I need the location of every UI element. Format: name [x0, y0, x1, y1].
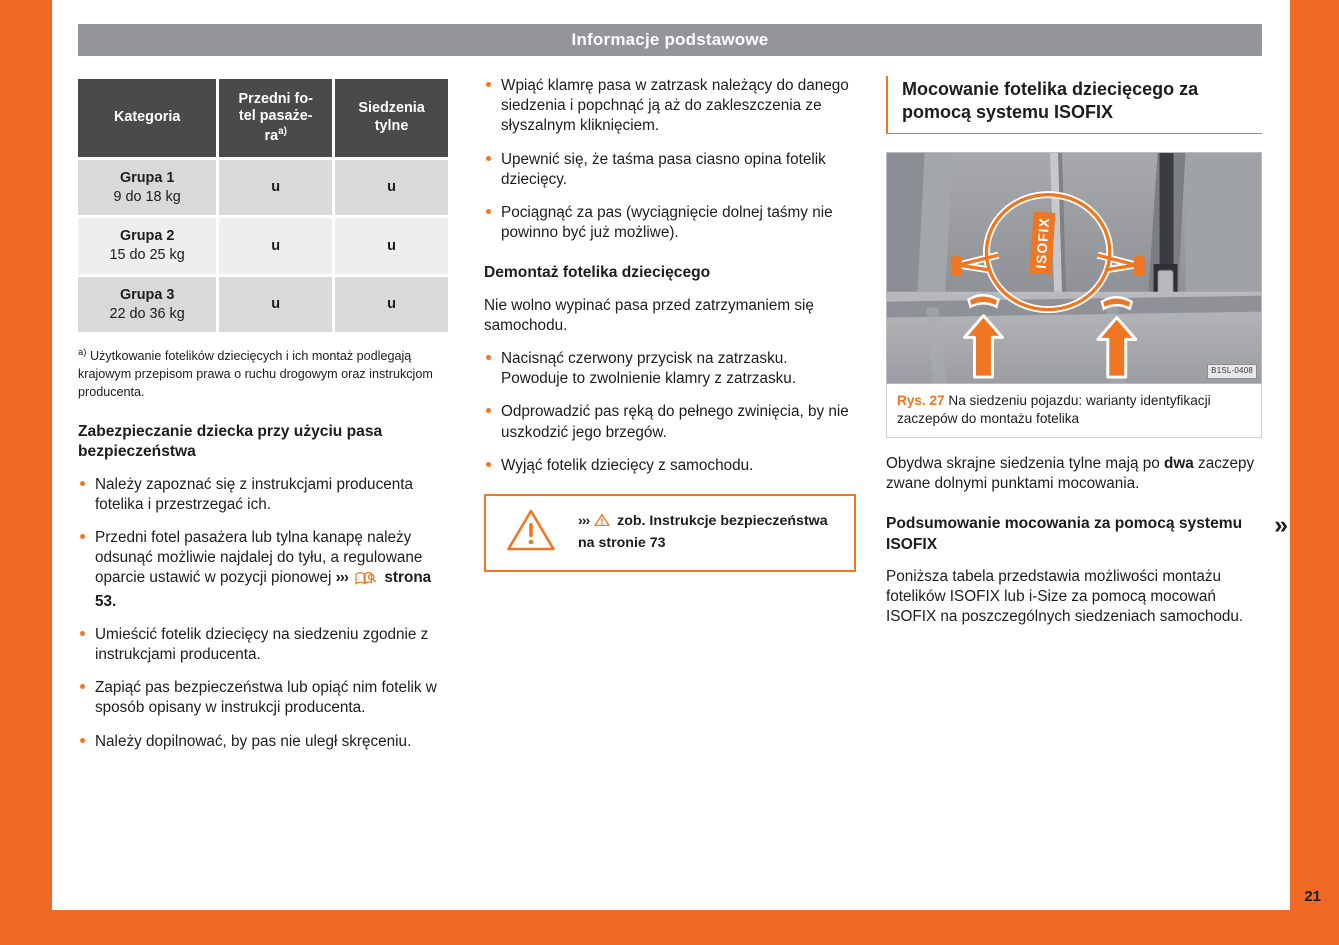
list-item: Zapiąć pas bezpieczeństwa lub opiąć nim … [78, 678, 454, 718]
list-item-text: Wyjąć fotelik dziecięcy z samochodu. [501, 457, 753, 474]
running-header: Informacje podstawowe [78, 24, 1262, 56]
footnote-text: Użytkowanie fotelików dziecięcych i ich … [78, 350, 433, 400]
list-item-text: Nacisnąć czerwony przycisk na zatrzasku.… [501, 350, 796, 387]
list-item: Pociągnąć za pas (wyciągnięcie dolnej ta… [484, 203, 856, 243]
safety-warning-line1: zob. Instrukcje bezpieczeństwa [617, 513, 828, 529]
list-item-text: Odprowadzić pas ręką do pełnego zwinięci… [501, 403, 849, 440]
group-label: Grupa 2 [82, 227, 212, 246]
continue-marker-icon: » [1274, 509, 1288, 542]
list-item-text: Wpiąć klamrę pasa w zatrzask należący do… [501, 77, 849, 134]
table-row: Grupa 2 15 do 25 kg u u [78, 218, 448, 273]
table-header-siedzenia-tylne: Siedzeniatylne [335, 79, 448, 157]
table-row: Grupa 3 22 do 36 kg u u [78, 277, 448, 332]
table-cell-front: u [219, 160, 332, 215]
table-cell-category: Grupa 2 15 do 25 kg [78, 218, 216, 273]
list-item: Należy zapoznać się z instrukcjami produ… [78, 475, 454, 515]
list-item-text: Umieścić fotelik dziecięcy na siedzeniu … [95, 626, 428, 663]
table-cell-front: u [219, 277, 332, 332]
list-item: Wyjąć fotelik dziecięcy z samochodu. [484, 456, 856, 476]
safety-warning-text: ››› zob. Instrukcje bezpieczeństwa na st… [578, 512, 828, 554]
header-title: Informacje podstawowe [572, 29, 769, 51]
list-item: Odprowadzić pas ręką do pełnego zwinięci… [484, 402, 856, 442]
paragraph-part-a: Obydwa skrajne siedzenia tylne mają po [886, 455, 1164, 472]
figure-code: B1SL-0408 [1207, 364, 1257, 379]
weight-label: 15 do 25 kg [82, 246, 212, 265]
warning-triangle-icon [506, 508, 556, 558]
list-item-text: Należy zapoznać się z instrukcjami produ… [95, 476, 413, 513]
bullet-dot-icon [486, 82, 491, 87]
table-cell-rear: u [335, 218, 448, 273]
list-item: Należy dopilnować, by pas nie uległ skrę… [78, 732, 454, 752]
figure-caption: Rys. 27 Na siedzeniu pojazdu: warianty i… [886, 384, 1262, 438]
section-heading-demontaz: Demontaż fotelika dziecięcego [484, 263, 856, 283]
section-heading-isofix: Mocowanie fotelika dziecięcego za pomocą… [886, 76, 1262, 134]
paragraph-bold-dwa: dwa [1164, 455, 1194, 472]
chevrons-icon: ››› [578, 513, 589, 529]
footnote-ref-a: a) [278, 126, 287, 137]
figure-image: ISOFIX [886, 152, 1262, 384]
group-label: Grupa 3 [82, 286, 212, 305]
table-cell-category: Grupa 3 22 do 36 kg [78, 277, 216, 332]
table-header-siedzenia-tylne-label: Siedzeniatylne [358, 100, 424, 134]
list-item-text: Upewnić się, że taśma pasa ciasno opina … [501, 151, 826, 188]
table-cell-front: u [219, 218, 332, 273]
list-item-text: Zapiąć pas bezpieczeństwa lub opiąć nim … [95, 679, 437, 716]
column-right: Mocowanie fotelika dziecięcego za pomocą… [886, 76, 1262, 640]
list-item: Umieścić fotelik dziecięcy na siedzeniu … [78, 625, 454, 665]
bullet-dot-icon [486, 209, 491, 214]
bullet-dot-icon [486, 408, 491, 413]
column-left: Kategoria Przedni fo-tel pasaże-raa) Sie… [78, 76, 454, 765]
table-header-kategoria: Kategoria [78, 79, 216, 157]
figure-isofix: ISOFIX [886, 152, 1262, 438]
table-header-kategoria-label: Kategoria [114, 109, 180, 125]
figure-reference: Rys. 27 [897, 393, 945, 408]
cross-reference-suffix: . [112, 593, 116, 610]
paragraph-table-intro: Poniższa tabela przedstawia możliwości m… [886, 567, 1262, 628]
table-cell-rear: u [335, 160, 448, 215]
page-number: 21 [1304, 888, 1321, 905]
rear-seat-illustration: ISOFIX [887, 153, 1261, 383]
bullet-dot-icon [486, 156, 491, 161]
list-item: Wpiąć klamrę pasa w zatrzask należący do… [484, 76, 856, 137]
bullet-dot-icon [80, 738, 85, 743]
footnote-marker: a) [78, 347, 86, 358]
section-heading-seatbelt: Zabezpieczanie dziecka przy użyciu pasa … [78, 422, 454, 463]
list-item-text: Należy dopilnować, by pas nie uległ skrę… [95, 733, 411, 750]
weight-label: 9 do 18 kg [82, 188, 212, 207]
list-item-text: Pociągnąć za pas (wyciągnięcie dolnej ta… [501, 204, 833, 241]
bullet-dot-icon [486, 355, 491, 360]
safety-warning-line2: na stronie 73 [578, 535, 666, 551]
warning-triangle-icon [594, 513, 610, 534]
book-page-icon [355, 571, 376, 591]
bullet-dot-icon [80, 684, 85, 689]
paragraph-demontaz: Nie wolno wypinać pasa przed zatrzymanie… [484, 296, 856, 336]
column-middle: Wpiąć klamrę pasa w zatrzask należący do… [484, 76, 856, 572]
section-heading-podsumowanie: Podsumowanie mocowania za pomocą systemu… [886, 514, 1262, 555]
category-table: Kategoria Przedni fo-tel pasaże-raa) Sie… [75, 76, 451, 335]
bullet-dot-icon [80, 631, 85, 636]
bullet-dot-icon [486, 462, 491, 467]
list-item: Przedni fotel pasażera lub tylna kanapę … [78, 528, 454, 612]
table-header-row: Kategoria Przedni fo-tel pasaże-raa) Sie… [78, 79, 448, 157]
bullet-dot-icon [80, 481, 85, 486]
table-row: Grupa 1 9 do 18 kg u u [78, 160, 448, 215]
paragraph-anchor-points: Obydwa skrajne siedzenia tylne mają po d… [886, 454, 1262, 494]
list-item: Upewnić się, że taśma pasa ciasno opina … [484, 150, 856, 190]
table-footnote: a) Użytkowanie fotelików dziecięcych i i… [78, 346, 454, 402]
safety-warning-box: ››› zob. Instrukcje bezpieczeństwa na st… [484, 494, 856, 572]
weight-label: 22 do 36 kg [82, 305, 212, 324]
table-cell-rear: u [335, 277, 448, 332]
figure-caption-text: Na siedzeniu pojazdu: warianty identyfik… [897, 393, 1211, 426]
chevrons-icon: ››› [336, 569, 348, 586]
table-header-przedni-fotel-label: Przedni fo-tel pasaże-ra [239, 91, 313, 144]
table-cell-category: Grupa 1 9 do 18 kg [78, 160, 216, 215]
table-header-przedni-fotel: Przedni fo-tel pasaże-raa) [219, 79, 332, 157]
list-item: Nacisnąć czerwony przycisk na zatrzasku.… [484, 349, 856, 389]
group-label: Grupa 1 [82, 169, 212, 188]
content-columns: Kategoria Przedni fo-tel pasaże-raa) Sie… [78, 76, 1262, 866]
bullet-dot-icon [80, 534, 85, 539]
